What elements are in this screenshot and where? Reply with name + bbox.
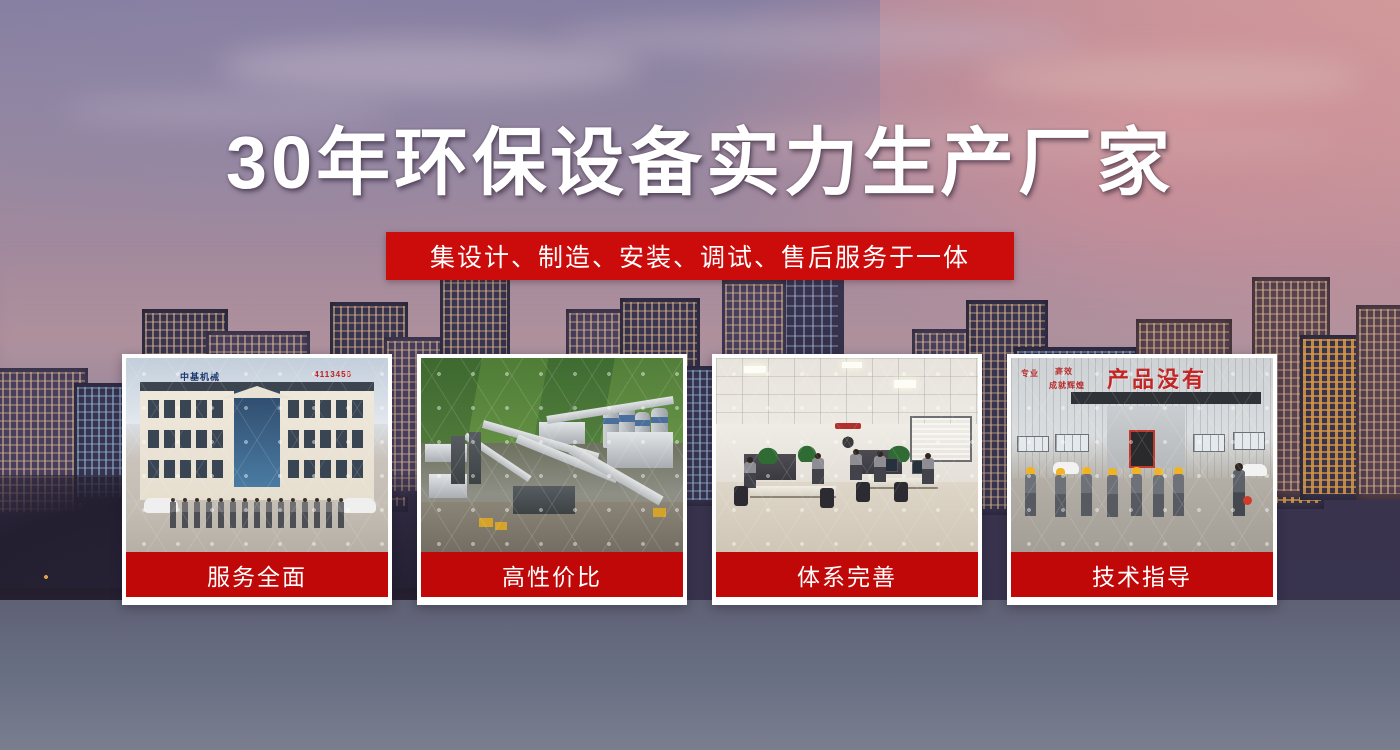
building-window <box>164 430 175 448</box>
staff-person <box>254 502 260 528</box>
staff-person <box>338 502 344 528</box>
feature-card[interactable]: 体系完善 <box>712 354 982 605</box>
building-window <box>148 430 159 448</box>
card-photo-industrial-plant <box>421 358 683 552</box>
building-window <box>320 460 331 478</box>
plant-stack <box>451 436 465 484</box>
office-employee <box>922 458 934 484</box>
card-caption: 服务全面 <box>126 552 388 597</box>
building-window <box>352 460 363 478</box>
office-employee <box>812 458 824 484</box>
factory-worker <box>1173 474 1184 516</box>
banner-stage: 30年环保设备实力生产厂家 集设计、制造、安装、调试、售后服务于一体 中基机械 … <box>0 0 1400 750</box>
building-window <box>196 400 207 418</box>
factory-window <box>1233 432 1265 450</box>
factory-wall-slogan-small: 高效 <box>1055 366 1073 377</box>
building-window <box>164 400 175 418</box>
staff-person <box>230 502 236 528</box>
card-photo-factory-workers: 产品没有 专业 高效 成就辉煌 <box>1011 358 1273 552</box>
staff-person <box>170 502 176 528</box>
plant-shed <box>607 432 673 468</box>
ceiling-light <box>744 366 766 373</box>
building-window <box>212 400 223 418</box>
building-window <box>304 400 315 418</box>
yellow-machine <box>653 508 666 517</box>
factory-wall-slogan-small: 成就辉煌 <box>1049 380 1085 391</box>
yellow-machine <box>479 518 493 527</box>
staff-person <box>206 502 212 528</box>
ceiling-light <box>894 380 916 388</box>
building-window <box>180 400 191 418</box>
staff-person <box>290 502 296 528</box>
feature-card[interactable]: 产品没有 专业 高效 成就辉煌 技术指导 <box>1007 354 1277 605</box>
building-phone-text: 4113456 <box>314 370 352 379</box>
building-window <box>196 460 207 478</box>
feature-card[interactable]: 高性价比 <box>417 354 687 605</box>
office-employee <box>874 456 886 482</box>
office-chair <box>820 488 834 508</box>
plant-stack <box>469 432 481 484</box>
card-caption: 高性价比 <box>421 552 683 597</box>
building-window <box>148 400 159 418</box>
banner-subtitle-text: 集设计、制造、安装、调试、售后服务于一体 <box>430 238 970 274</box>
yellow-machine <box>495 522 507 530</box>
staff-person <box>314 502 320 528</box>
building-window <box>288 430 299 448</box>
factory-worker <box>1025 474 1036 516</box>
banner-headline: 30年环保设备实力生产厂家 <box>0 126 1400 200</box>
office-chair <box>856 482 870 502</box>
staff-person <box>302 502 308 528</box>
building-window <box>320 400 331 418</box>
feature-card[interactable]: 中基机械 4113456 服务全面 <box>122 354 392 605</box>
card-caption: 体系完善 <box>716 552 978 597</box>
staff-person <box>278 502 284 528</box>
factory-worker <box>1153 475 1164 517</box>
factory-worker <box>1107 475 1118 517</box>
office-chair <box>894 482 908 502</box>
office-chair <box>734 486 748 506</box>
building-window <box>196 430 207 448</box>
card-photo-office-interior <box>716 358 978 552</box>
staff-person <box>242 502 248 528</box>
building-window <box>320 430 331 448</box>
office-window <box>910 416 972 462</box>
building-window <box>180 460 191 478</box>
card-caption: 技术指导 <box>1011 552 1273 597</box>
factory-door <box>1129 430 1155 468</box>
factory-worker <box>1081 474 1092 516</box>
factory-wall-slogan: 产品没有 <box>1107 362 1207 394</box>
staff-person <box>194 502 200 528</box>
building-window <box>336 400 347 418</box>
staff-person <box>182 502 188 528</box>
feature-card-list: 中基机械 4113456 服务全面 高性价比 <box>122 354 1278 605</box>
plant-hangar <box>513 486 575 514</box>
staff-person <box>218 502 224 528</box>
factory-worker <box>1055 475 1066 517</box>
office-employee <box>850 454 862 480</box>
building-window <box>164 460 175 478</box>
building-window <box>352 400 363 418</box>
building-window <box>212 460 223 478</box>
banner-subtitle-bar: 集设计、制造、安装、调试、售后服务于一体 <box>386 232 1014 280</box>
factory-window <box>1193 434 1225 452</box>
red-safety-helmet <box>1243 496 1252 505</box>
parked-car <box>342 498 376 513</box>
building-window <box>212 430 223 448</box>
building-window <box>336 460 347 478</box>
factory-window <box>1017 436 1049 452</box>
building-window <box>288 460 299 478</box>
ceiling-light <box>842 362 862 368</box>
factory-worker <box>1131 474 1142 516</box>
building-window <box>336 430 347 448</box>
staff-person <box>326 502 332 528</box>
building-window <box>304 460 315 478</box>
card-photo-office-building: 中基机械 4113456 <box>126 358 388 552</box>
building-sign-text: 中基机械 <box>180 370 220 383</box>
building-window <box>304 430 315 448</box>
supervisor-person <box>1233 470 1245 516</box>
building-window <box>288 400 299 418</box>
office-plant <box>756 446 780 464</box>
building-window <box>180 430 191 448</box>
building-window <box>148 460 159 478</box>
office-employee <box>744 462 756 488</box>
factory-wall-slogan-small: 专业 <box>1021 368 1039 379</box>
building-window <box>352 430 363 448</box>
staff-person <box>266 502 272 528</box>
factory-window <box>1055 434 1089 452</box>
